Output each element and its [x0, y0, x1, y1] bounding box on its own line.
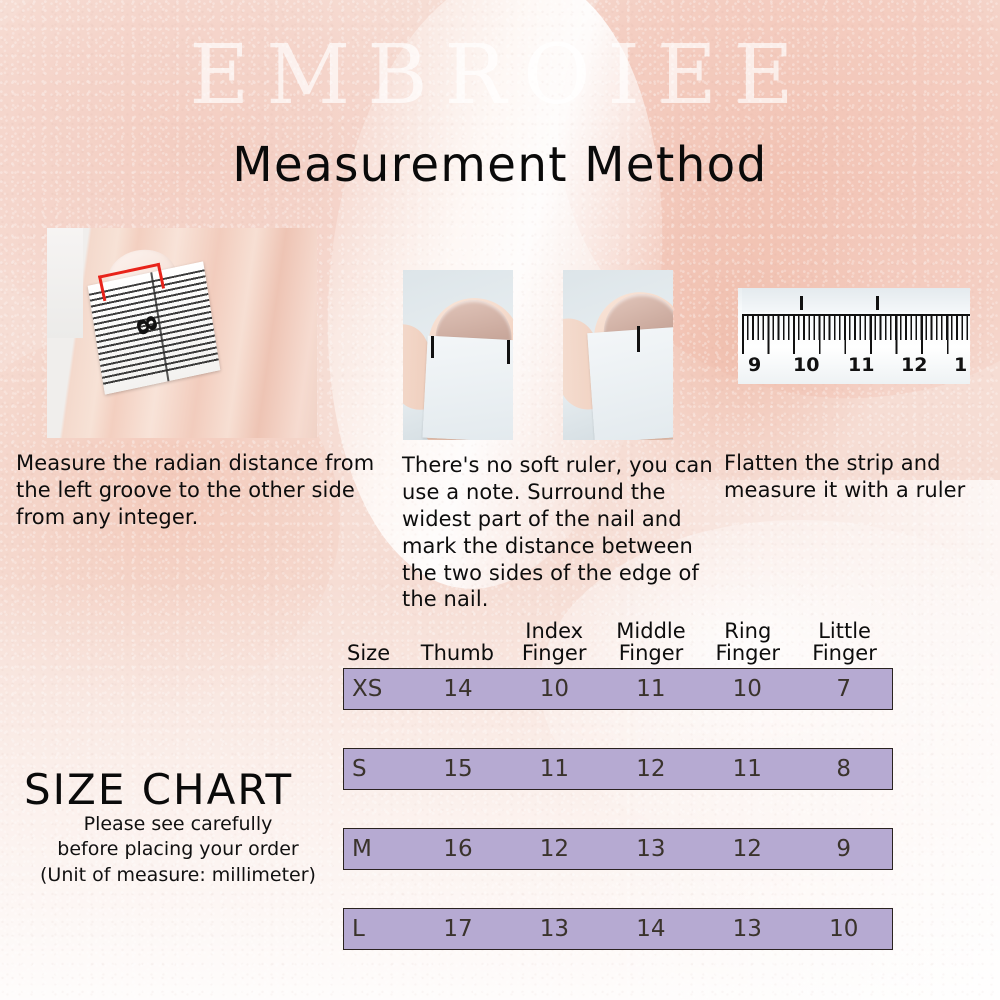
ruler-major-ticks: [742, 314, 970, 354]
header-line-1: Little: [796, 620, 893, 642]
cell-little: 9: [796, 836, 892, 862]
ruler-baseline: [742, 314, 970, 316]
size-chart-note-line-1: Please see carefully: [18, 812, 338, 837]
table-row: M 16 12 13 12 9: [343, 828, 893, 870]
strip-mark-left: [800, 296, 803, 310]
cell-ring: 10: [699, 676, 795, 702]
table-header-index-finger: Index Finger: [506, 620, 603, 664]
finger-with-soft-tape-photo: 8: [47, 228, 317, 438]
ruler-label-11: 11: [848, 354, 874, 376]
cell-size: XS: [344, 676, 410, 702]
cell-little: 7: [796, 676, 892, 702]
ruler-tick-labels: 9 10 11 12 1: [738, 350, 970, 380]
cell-middle: 13: [603, 836, 699, 862]
table-header-little-finger: Little Finger: [796, 620, 893, 664]
table-header-row: Size Thumb Index Finger Middle Finger Ri…: [343, 612, 893, 668]
step-2-caption: There's no soft ruler, you can use a not…: [402, 452, 720, 613]
cell-index: 10: [506, 676, 602, 702]
strip-mark-right: [876, 296, 879, 310]
cell-thumb: 16: [410, 836, 506, 862]
size-chart-page: EMBROIEE Measurement Method 8: [0, 0, 1000, 1000]
ruler-label-9: 9: [748, 354, 761, 376]
cell-middle: 12: [603, 756, 699, 782]
flattened-paper-strip: [742, 288, 970, 312]
cell-ring: 13: [699, 916, 795, 942]
cell-little: 10: [796, 916, 892, 942]
cell-middle: 11: [603, 676, 699, 702]
table-row: L 17 13 14 13 10: [343, 908, 893, 950]
step-3-caption: Flatten the strip and measure it with a …: [724, 450, 994, 504]
cell-ring: 11: [699, 756, 795, 782]
size-chart-heading: SIZE CHART: [24, 765, 293, 814]
table-header-size: Size: [343, 642, 409, 664]
paper-strip: [422, 336, 513, 440]
brand-watermark: EMBROIEE: [0, 28, 1000, 123]
header-line-1: Ring: [699, 620, 796, 642]
cell-index: 11: [506, 756, 602, 782]
cell-thumb: 14: [410, 676, 506, 702]
cell-ring: 12: [699, 836, 795, 862]
ruler-measuring-strip-photo: 9 10 11 12 1: [738, 288, 970, 384]
strip-mark: [637, 326, 640, 352]
header-line-1: Index: [506, 620, 603, 642]
size-table: Size Thumb Index Finger Middle Finger Ri…: [343, 612, 893, 950]
header-line-2: Finger: [796, 642, 893, 664]
page-title: Measurement Method: [15, 137, 985, 193]
ruler-label-10: 10: [793, 354, 819, 376]
cell-size: S: [344, 756, 410, 782]
cell-little: 8: [796, 756, 892, 782]
cell-size: L: [344, 916, 410, 942]
cell-size: M: [344, 836, 410, 862]
header-line-2: Size: [347, 642, 409, 664]
paper-strip-on-nail-photo: [403, 270, 513, 440]
header-line-2: Finger: [506, 642, 603, 664]
header-line-2: Finger: [699, 642, 796, 664]
size-chart-note-line-3: (Unit of measure: millimeter): [18, 863, 338, 888]
cell-thumb: 17: [410, 916, 506, 942]
table-header-middle-finger: Middle Finger: [603, 620, 700, 664]
cell-index: 13: [506, 916, 602, 942]
ruler-label-12: 12: [901, 354, 927, 376]
size-chart-note: Please see carefully before placing your…: [18, 812, 338, 888]
strip-mark-left: [431, 336, 434, 358]
size-chart-note-line-2: before placing your order: [18, 837, 338, 862]
cell-thumb: 15: [410, 756, 506, 782]
paper-strip: [587, 327, 673, 440]
table-row: S 15 11 12 11 8: [343, 748, 893, 790]
paper-strip-on-nail-angled-photo: [563, 270, 673, 440]
strip-mark-right: [507, 340, 510, 364]
header-line-2: Thumb: [409, 642, 506, 664]
photo-background-pad: [47, 228, 83, 338]
header-line-2: Finger: [603, 642, 700, 664]
table-row: XS 14 10 11 10 7: [343, 668, 893, 710]
table-header-thumb: Thumb: [409, 642, 506, 664]
header-line-1: Middle: [603, 620, 700, 642]
step-1-caption: Measure the radian distance from the lef…: [16, 450, 384, 531]
cell-middle: 14: [603, 916, 699, 942]
ruler-label-13: 1: [954, 354, 967, 376]
cell-index: 12: [506, 836, 602, 862]
table-header-ring-finger: Ring Finger: [699, 620, 796, 664]
